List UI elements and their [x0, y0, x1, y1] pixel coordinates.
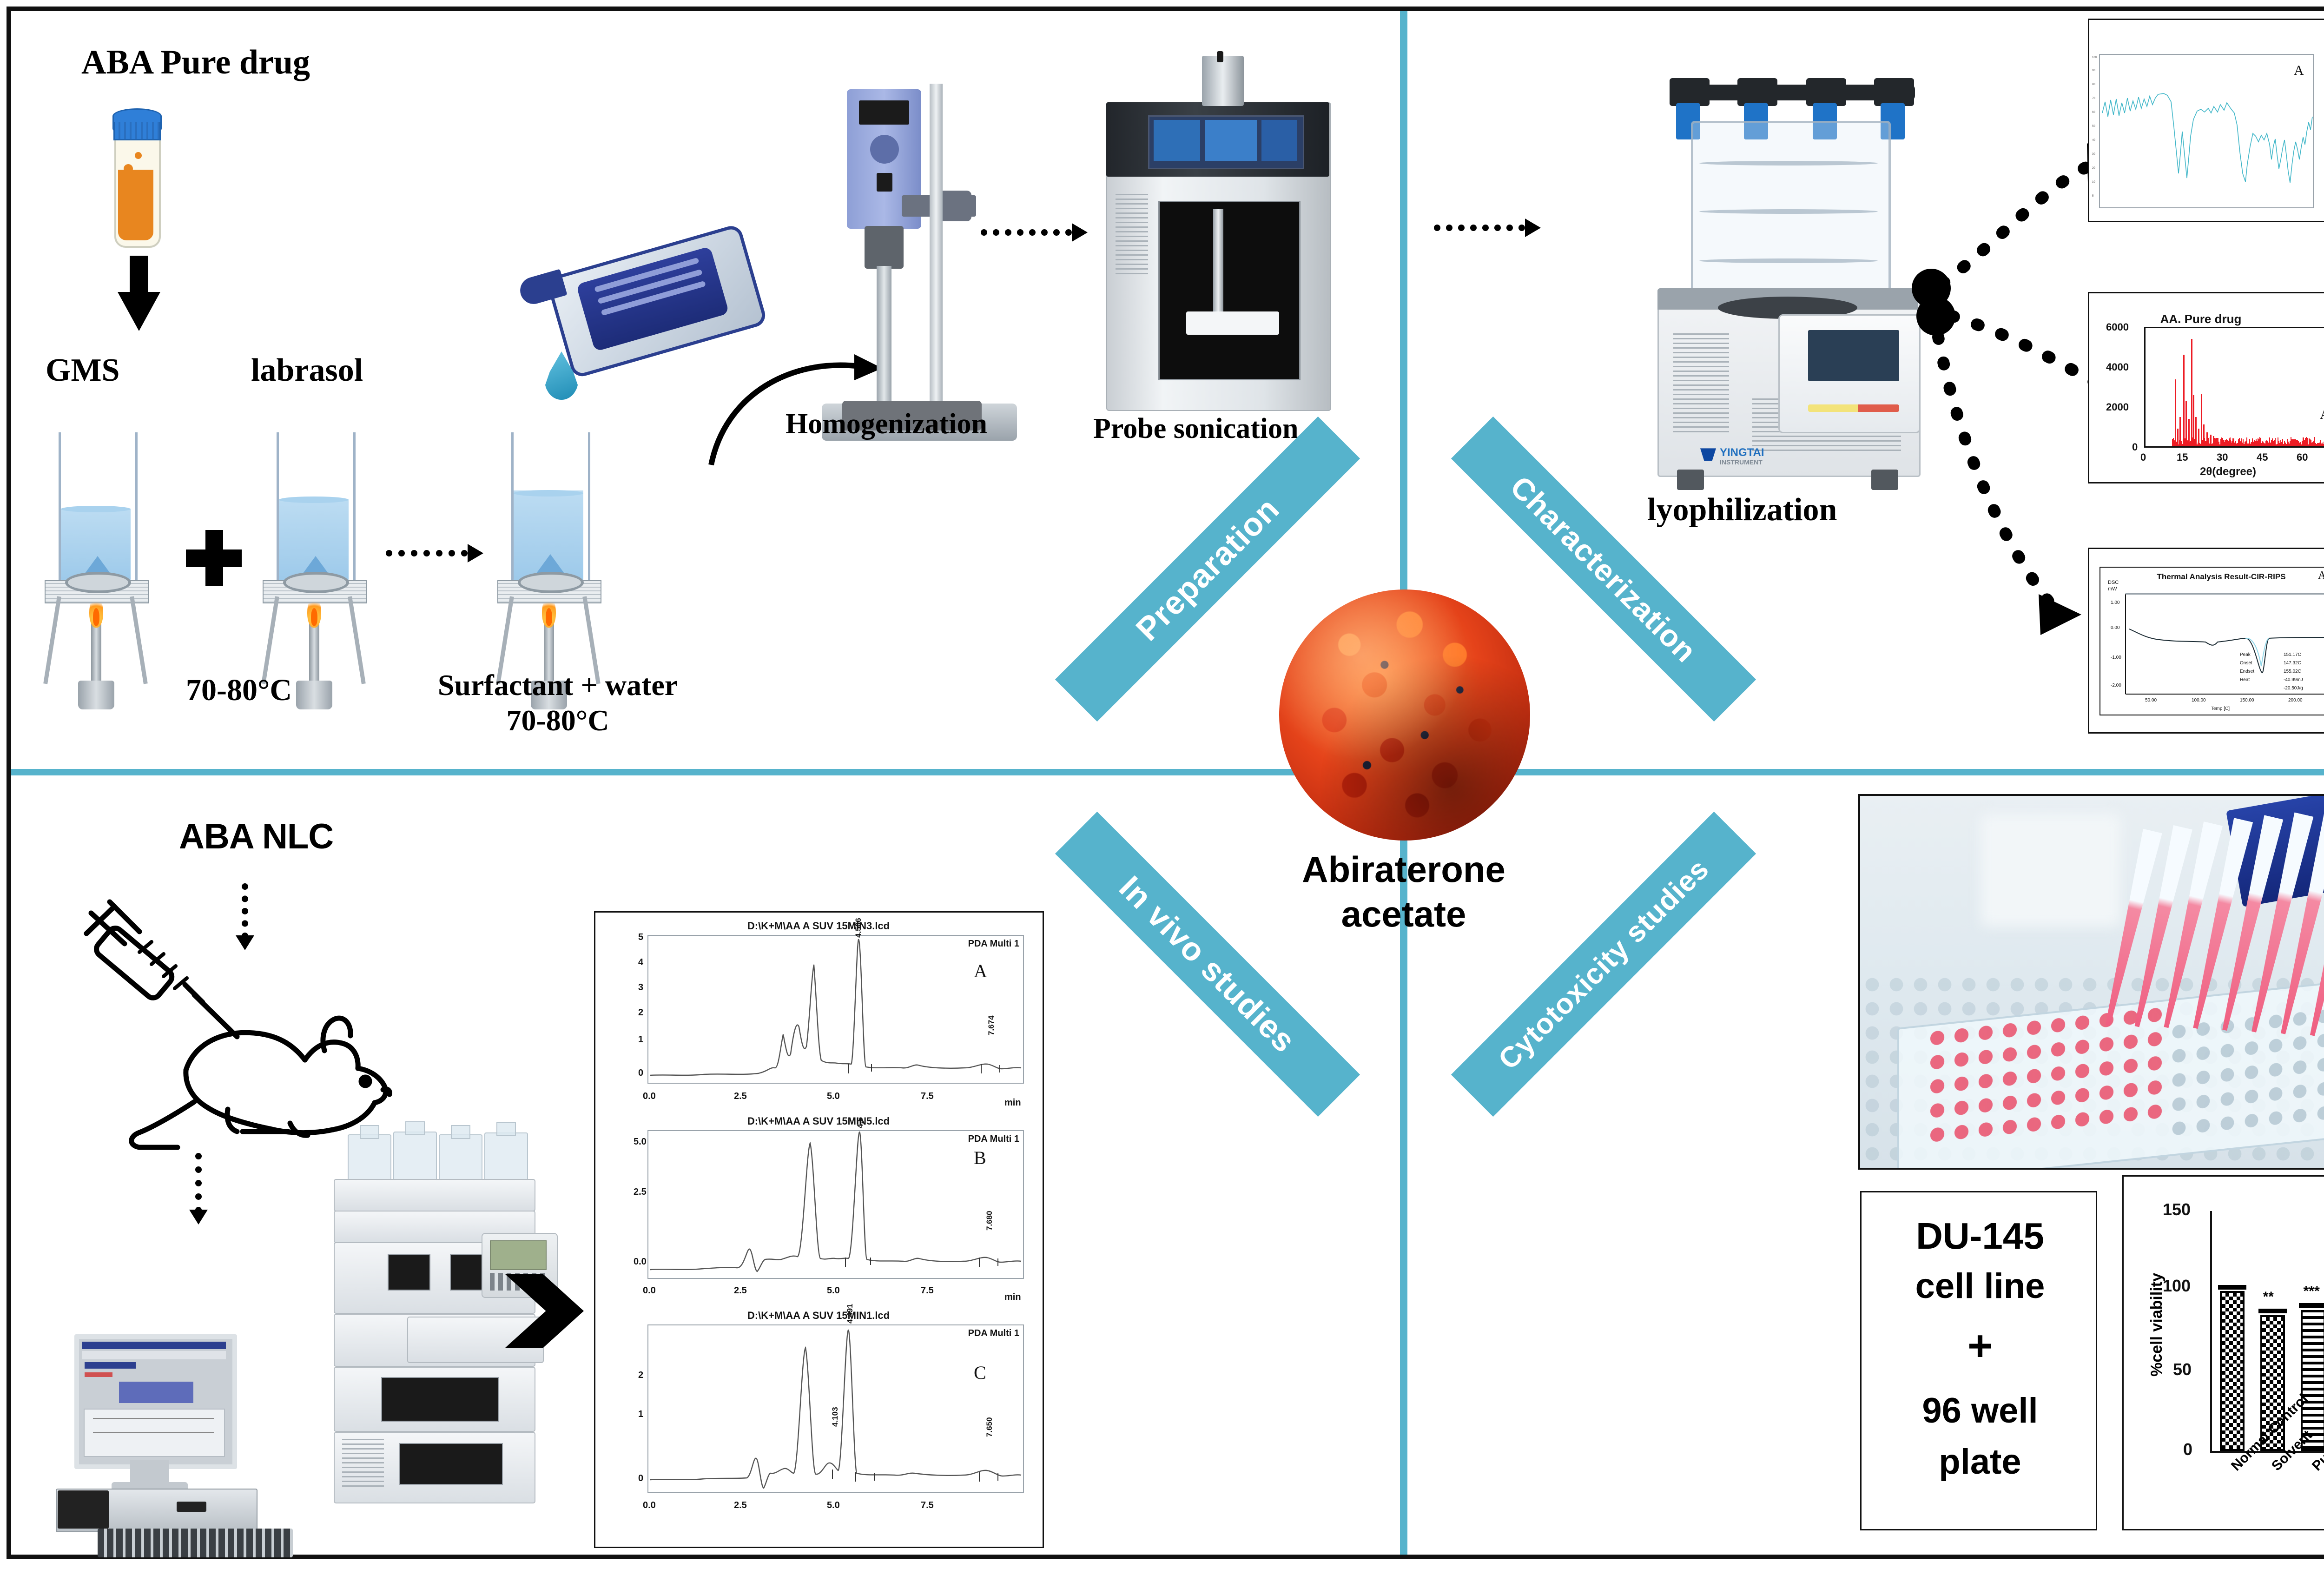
svg-text:Heat: Heat	[2240, 677, 2250, 682]
hplc-b-detector: PDA Multi 1	[968, 1134, 1019, 1145]
graphical-abstract: ABA Pure drug GMS labra	[0, 0, 2324, 1569]
hplc-b-plot: PDA Multi 1 B 4.5 7.680	[647, 1130, 1024, 1279]
xrd-a-xtick-60: 60	[2297, 451, 2308, 463]
hplc-c-ytick-1: 1	[638, 1409, 643, 1420]
xrd-peak	[2185, 401, 2187, 446]
xrd-a-xtick-0: 0	[2140, 451, 2146, 463]
chevron-arrow-to-chromatograms	[505, 1274, 584, 1348]
96-well-plate-photo	[1858, 794, 2324, 1170]
gms-label: GMS	[46, 353, 119, 388]
compound-name-line1: Abiraterone	[1213, 851, 1594, 889]
hplc-a-ytick-3: 3	[638, 982, 643, 993]
xrd-a-ytick-2000: 2000	[2106, 401, 2129, 413]
hplc-c-peak-3: 7.650	[985, 1417, 994, 1437]
arrow-prep-to-char	[1434, 218, 1541, 237]
homogenization-label: Homogenization	[786, 409, 987, 439]
svg-text:200.00: 200.00	[2288, 698, 2303, 703]
svg-text:Peak: Peak	[2240, 652, 2251, 657]
temperature-left-label: 70-80°C	[186, 674, 292, 706]
svg-text:Endset: Endset	[2240, 669, 2254, 674]
hplc-b-peak-2: 7.680	[985, 1211, 994, 1231]
hplc-monitor	[74, 1334, 237, 1469]
hplc-c-plot: PDA Multi 1 C 4.103 4.491 7.650	[647, 1324, 1024, 1493]
hplc-b-xtick-50: 5.0	[827, 1285, 840, 1296]
cyto-significance: **	[2263, 1289, 2274, 1305]
arrow-rat-to-hplc	[195, 1153, 202, 1213]
down-arrow-icon	[118, 256, 159, 330]
du145-assay-box: DU-145 cell line + 96 well plate	[1860, 1191, 2097, 1530]
hplc-b-title: D:\K+M\AA A SUV 15MIN5.lcd	[702, 1115, 935, 1127]
du145-line2: cell line	[1862, 1268, 2099, 1305]
hplc-a-ytick-0: 0	[638, 1068, 643, 1079]
dsc-panel: Thermal Analysis Result-CIR-RIPS A DSC m…	[2088, 548, 2324, 734]
hplc-a-xtick-0: 0.0	[643, 1091, 656, 1102]
xrd-peak	[2210, 435, 2212, 446]
xrd-peak	[2217, 438, 2218, 446]
xrd-a-title: AA. Pure drug	[2131, 312, 2271, 326]
du145-line4: 96 well	[1862, 1392, 2099, 1430]
svg-text:150.00: 150.00	[2240, 698, 2254, 703]
xrd-a-ytick-6000: 6000	[2106, 321, 2129, 333]
cyto-ytick-0: 0	[2183, 1440, 2192, 1459]
ftir-panel: 1009080 706050 403020 105 A 1009080 7060…	[2088, 19, 2324, 222]
nanoparticle-illustration	[1279, 589, 1530, 841]
probe-sonication-label: Probe sonication	[1093, 414, 1298, 444]
hplc-c-title: D:\K+M\AA A SUV 15MIN1.lcd	[702, 1310, 935, 1322]
xrd-peak	[2201, 394, 2202, 446]
xrd-a-ytick-4000: 4000	[2106, 361, 2129, 373]
svg-text:60: 60	[2092, 111, 2095, 114]
hplc-a-xtick-75: 7.5	[921, 1091, 934, 1102]
xrd-peak	[2193, 395, 2194, 446]
xrd-peak	[2177, 429, 2179, 446]
cyto-plot-area: ********************	[2210, 1211, 2324, 1453]
hplc-keyboard	[98, 1529, 293, 1557]
svg-text:5: 5	[2092, 195, 2094, 198]
svg-text:70: 70	[2092, 97, 2095, 100]
hplc-c-letter: C	[974, 1362, 986, 1384]
dsc-a-subpanel: Thermal Analysis Result-CIR-RIPS A DSC m…	[2100, 567, 2324, 715]
drug-vial	[106, 95, 166, 244]
xrd-peak	[2175, 379, 2176, 446]
hplc-chromatogram-panel: D:\K+M\AA A SUV 15MIN3.lcd PDA Multi 1 A…	[594, 911, 1044, 1548]
svg-text:100: 100	[2092, 56, 2097, 59]
arrowhead-rat-to-hplc	[189, 1210, 208, 1225]
xrd-peak	[2245, 442, 2247, 446]
cyto-bar	[2220, 1291, 2244, 1451]
hplc-b-xtick-0: 0.0	[643, 1285, 656, 1296]
xrd-panel: AA. Pure drug 6000 4000 2000 0 0 15 30 4…	[2088, 292, 2324, 483]
plus-symbol-prep	[186, 530, 242, 586]
hplc-b-ytick-25: 2.5	[634, 1187, 647, 1198]
hplc-b-xtick-25: 2.5	[734, 1285, 747, 1296]
hplc-a-peak-2: 7.674	[987, 1015, 996, 1035]
hplc-a-xlabel: min	[1004, 1098, 1021, 1108]
hplc-b-ytick-0: 0.0	[634, 1257, 647, 1267]
svg-text:90: 90	[2092, 69, 2095, 72]
mixture-label-line1: Surfactant + water	[414, 669, 702, 701]
xrd-peak	[2203, 424, 2205, 446]
hplc-b-xlabel: min	[1004, 1292, 1021, 1303]
aba-pure-drug-label: ABA Pure drug	[81, 45, 310, 81]
arrow-to-mixture	[386, 544, 483, 563]
xrd-peak	[2188, 419, 2190, 446]
cyto-ytick-50: 50	[2173, 1360, 2192, 1379]
beaker-gms	[45, 432, 147, 730]
ftir-spectra-svg: 1009080 706050 403020 105 A 1009080 7060…	[2089, 20, 2324, 221]
homogenizer	[790, 56, 1050, 446]
arrow-to-sonicator	[981, 223, 1088, 242]
svg-text:100.00: 100.00	[2192, 698, 2206, 703]
xrd-peak	[2251, 443, 2252, 446]
hplc-c-peak-1: 4.103	[831, 1407, 840, 1427]
xrd-a-xtick-45: 45	[2257, 451, 2268, 463]
svg-text:Onset: Onset	[2240, 661, 2252, 666]
svg-text:50.00: 50.00	[2145, 698, 2157, 703]
hplc-a-xtick-25: 2.5	[734, 1091, 747, 1102]
hplc-b-ytick-5: 5.0	[634, 1137, 647, 1147]
xrd-peak	[2206, 432, 2208, 446]
hplc-a-ytick-5: 5	[638, 932, 643, 943]
xrd-peak	[2240, 441, 2242, 446]
xrd-a-xtick-15: 15	[2177, 451, 2188, 463]
hplc-a-title: D:\K+M\AA A SUV 15MIN3.lcd	[702, 920, 935, 932]
xrd-peak	[2225, 440, 2226, 446]
svg-text:Temp [C]: Temp [C]	[2211, 706, 2230, 711]
svg-text:155.02C: 155.02C	[2284, 669, 2301, 674]
svg-text:0.00: 0.00	[2111, 625, 2120, 630]
svg-text:80: 80	[2092, 83, 2095, 86]
xrd-peak	[2195, 417, 2197, 447]
svg-text:-20.50J/g: -20.50J/g	[2284, 686, 2303, 691]
svg-text:1.00: 1.00	[2111, 600, 2120, 605]
xrd-a-xtick-30: 30	[2217, 451, 2228, 463]
hplc-a-ytick-4: 4	[638, 957, 643, 968]
du145-line5: plate	[1862, 1443, 2099, 1481]
cyto-ytick-150: 150	[2163, 1200, 2191, 1219]
hplc-a-plot: PDA Multi 1 A 4.506 7.674	[647, 935, 1024, 1084]
probe-sonicator	[1088, 51, 1348, 437]
svg-text:40: 40	[2092, 139, 2095, 142]
labrasol-label: labrasol	[251, 353, 363, 388]
xrd-peak	[2220, 439, 2222, 446]
aba-nlc-title: ABA NLC	[179, 818, 333, 855]
xrd-a-plot	[2144, 327, 2324, 448]
hplc-c-xtick-0: 0.0	[643, 1500, 656, 1511]
hplc-a-ytick-2: 2	[638, 1007, 643, 1018]
xrd-peak	[2183, 355, 2185, 446]
hplc-b-xtick-75: 7.5	[921, 1285, 934, 1296]
hplc-c-detector: PDA Multi 1	[968, 1328, 1019, 1339]
svg-text:147.32C: 147.32C	[2284, 661, 2301, 666]
mixture-label-line2: 70-80°C	[414, 705, 702, 736]
lyophilization-label: lyophilization	[1647, 493, 1837, 527]
lyophilizer-brand-sub: INSTRUMENT	[1720, 458, 1763, 466]
xrd-a-letter: A	[2320, 407, 2324, 423]
ftir-a-letter: A	[2294, 63, 2304, 78]
svg-text:151.17C: 151.17C	[2284, 652, 2301, 657]
cytotoxicity-chart-panel: %cell viability 150 100 50 0 ***********…	[2122, 1175, 2324, 1530]
xrd-peak	[2258, 443, 2260, 446]
hplc-a-detector: PDA Multi 1	[968, 939, 1019, 949]
svg-text:10: 10	[2092, 181, 2095, 184]
hplc-c-xtick-50: 5.0	[827, 1500, 840, 1511]
xrd-peak	[2230, 440, 2231, 446]
cyto-ytick-100: 100	[2163, 1276, 2191, 1296]
xrd-peak	[2235, 441, 2236, 446]
svg-text:20: 20	[2092, 167, 2095, 170]
xrd-peak	[2198, 429, 2199, 446]
cyto-error-cap	[2299, 1303, 2324, 1308]
svg-text:-1.00: -1.00	[2111, 655, 2121, 660]
xrd-a-xlabel: 2θ(degree)	[2200, 465, 2256, 478]
xrd-a-ytick-0: 0	[2132, 441, 2138, 453]
svg-text:-40.99mJ: -40.99mJ	[2284, 677, 2303, 682]
cyto-error-cap	[2218, 1285, 2246, 1290]
hplc-c-xtick-25: 2.5	[734, 1500, 747, 1511]
xrd-peak	[2179, 417, 2181, 447]
hplc-b-peak-1: 4.5	[856, 1117, 865, 1128]
xrd-peak	[2213, 436, 2214, 446]
du145-line1: DU-145	[1862, 1217, 2099, 1256]
du145-line3: +	[1862, 1324, 2099, 1369]
hplc-a-xtick-50: 5.0	[827, 1091, 840, 1102]
xrd-peak	[2191, 339, 2192, 446]
svg-text:30: 30	[2092, 153, 2095, 156]
hplc-a-peak-1: 4.506	[854, 918, 863, 938]
hplc-c-ytick-2: 2	[638, 1370, 643, 1381]
lyophilizer-brand: YINGTAI	[1720, 446, 1764, 459]
hplc-a-letter: A	[974, 960, 987, 982]
hplc-b-letter: B	[974, 1147, 986, 1169]
cyto-error-cap	[2258, 1309, 2287, 1313]
cyto-significance: ***	[2304, 1284, 2320, 1299]
horizontal-divider-left	[11, 769, 1401, 775]
compound-name-line2: acetate	[1213, 895, 1594, 933]
svg-text:-2.00: -2.00	[2111, 683, 2121, 688]
hplc-a-ytick-1: 1	[638, 1034, 643, 1045]
hplc-c-ytick-0: 0	[638, 1473, 643, 1484]
hplc-c-xtick-75: 7.5	[921, 1500, 934, 1511]
svg-text:50: 50	[2092, 125, 2095, 128]
hplc-c-peak-2: 4.491	[845, 1304, 855, 1324]
horizontal-divider-right	[1407, 769, 2324, 775]
